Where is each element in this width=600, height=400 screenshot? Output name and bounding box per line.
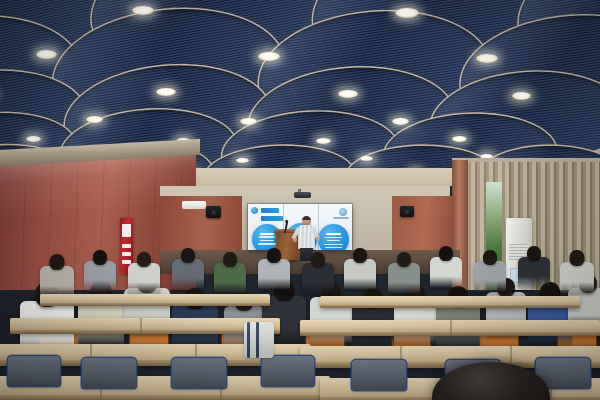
ceiling-projector xyxy=(294,192,311,198)
ceiling-downlight xyxy=(452,136,467,142)
audience-member xyxy=(258,248,290,290)
lecture-hall-photo: Lecture Hall Presentation xyxy=(0,0,600,400)
audience-member-head xyxy=(570,250,585,266)
wall-speaker-right xyxy=(400,206,414,217)
ceiling-downlight xyxy=(240,118,257,125)
ceiling-downlight xyxy=(36,50,57,59)
audience-member xyxy=(560,250,594,294)
audience-member-torso xyxy=(344,259,376,290)
audience-member-head xyxy=(483,250,497,265)
audience-member xyxy=(40,254,74,298)
ceiling-downlight xyxy=(338,90,358,98)
desk-seam xyxy=(450,320,452,336)
ceiling-downlight xyxy=(512,92,531,100)
audience-member xyxy=(518,246,550,288)
audience-member-torso xyxy=(560,262,594,294)
ceiling-downlight xyxy=(86,116,103,123)
ceiling-downlight xyxy=(258,52,280,61)
audience-member xyxy=(214,252,246,294)
audience-member-torso xyxy=(388,263,420,294)
ceiling-downlight xyxy=(360,156,373,161)
ceiling-downlight xyxy=(236,158,249,163)
audience-member-head xyxy=(311,252,325,267)
audience-member-head xyxy=(223,252,237,267)
audience-member-torso xyxy=(474,261,506,292)
audience-member-torso xyxy=(84,261,116,292)
desk xyxy=(10,318,280,334)
slide-bubble-text-line xyxy=(260,233,274,235)
audience-member-torso xyxy=(302,263,334,294)
ceiling-downlight xyxy=(156,88,176,96)
slide-tag-subtitle xyxy=(261,216,283,221)
chair xyxy=(352,360,406,390)
chair xyxy=(262,356,314,386)
slide-tag-title xyxy=(261,208,279,213)
wall-speaker-left xyxy=(206,206,221,218)
audience-member-head xyxy=(50,254,65,270)
audience-member xyxy=(172,248,204,290)
audience-member-torso xyxy=(430,257,462,288)
ceiling-downlight xyxy=(26,136,41,142)
audience-member xyxy=(128,252,160,294)
desk-seam xyxy=(140,318,142,334)
audience-member xyxy=(430,246,462,288)
audience-member-head xyxy=(439,246,453,261)
slide-bubble-text-line xyxy=(326,233,341,235)
desk xyxy=(320,296,580,308)
audience-member-head xyxy=(353,248,367,263)
audience-member-head xyxy=(137,252,151,267)
audience-member-torso xyxy=(258,259,290,290)
audience-member-torso xyxy=(214,263,246,294)
chair xyxy=(82,358,136,388)
audience-member-head xyxy=(181,248,195,263)
audience-member-torso xyxy=(172,259,204,290)
slide-badge-icon xyxy=(251,207,258,214)
ceiling-downlight xyxy=(395,8,419,18)
organization-logo-icon xyxy=(339,208,347,216)
audience-member-head xyxy=(397,252,411,267)
chair xyxy=(172,358,226,388)
organization-logo-text xyxy=(333,217,349,219)
audience-member xyxy=(388,252,420,294)
wall-air-conditioner xyxy=(182,201,206,209)
desk xyxy=(40,294,270,306)
audience-member-head xyxy=(93,250,107,265)
audience-member xyxy=(344,248,376,290)
ceiling-downlight xyxy=(476,54,498,63)
backpack xyxy=(244,322,274,358)
audience-member xyxy=(84,250,116,292)
ceiling-downlight xyxy=(316,138,331,144)
audience-member-head xyxy=(267,248,281,263)
audience-member-torso xyxy=(128,263,160,294)
ceiling-downlight xyxy=(392,118,409,125)
audience-member xyxy=(474,250,506,292)
ceiling-downlight xyxy=(132,6,154,15)
desk xyxy=(300,320,600,336)
chair xyxy=(8,356,60,386)
audience-member-head xyxy=(527,246,541,261)
audience-member xyxy=(302,252,334,294)
audience-member-torso xyxy=(518,257,550,288)
